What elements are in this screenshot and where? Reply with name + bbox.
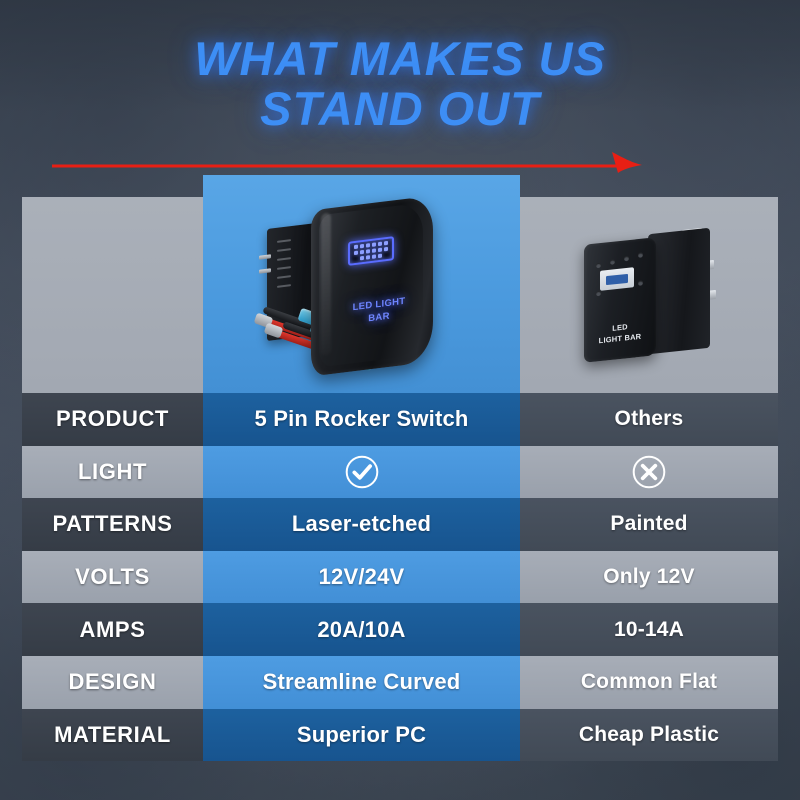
switch-caption-line-2: BAR bbox=[368, 310, 389, 324]
row-ours-text: 20A/10A bbox=[317, 617, 405, 643]
table-row: LIGHT bbox=[22, 446, 778, 499]
row-label-material: MATERIAL bbox=[22, 709, 203, 762]
row-label-text: LIGHT bbox=[78, 459, 147, 485]
row-label-amps: AMPS bbox=[22, 603, 203, 656]
row-ours-material: Superior PC bbox=[203, 709, 520, 762]
image-row-others-cell: LED LIGHT BAR bbox=[520, 197, 778, 393]
others-led-glyph-icon bbox=[600, 267, 634, 291]
row-label-text: DESIGN bbox=[69, 669, 157, 695]
row-others-text: Cheap Plastic bbox=[579, 723, 719, 747]
row-label-design: DESIGN bbox=[22, 656, 203, 709]
row-label-light: LIGHT bbox=[22, 446, 203, 499]
row-label-text: AMPS bbox=[80, 617, 146, 643]
table-row: MATERIAL Superior PC Cheap Plastic bbox=[22, 709, 778, 762]
row-others-text: 10-14A bbox=[614, 618, 684, 642]
row-ours-patterns: Laser-etched bbox=[203, 498, 520, 551]
cross-circle-icon bbox=[631, 454, 667, 490]
row-ours-amps: 20A/10A bbox=[203, 603, 520, 656]
row-ours-text: Laser-etched bbox=[292, 511, 431, 537]
table-row: AMPS 20A/10A 10-14A bbox=[22, 603, 778, 656]
row-ours-text: 12V/24V bbox=[319, 564, 405, 590]
title-line-1: WHAT MAKES US bbox=[0, 36, 800, 82]
row-label-text: PATTERNS bbox=[52, 511, 172, 537]
row-ours-design: Streamline Curved bbox=[203, 656, 520, 709]
row-ours-text: Superior PC bbox=[297, 722, 426, 748]
row-others-material: Cheap Plastic bbox=[520, 709, 778, 762]
table-row: VOLTS 12V/24V Only 12V bbox=[22, 551, 778, 604]
image-row-label-cell bbox=[22, 197, 203, 393]
row-ours-text: Streamline Curved bbox=[263, 669, 461, 695]
comparison-table: LED LIGHT BAR bbox=[22, 197, 778, 761]
product-rocker-switch-image: LED LIGHT BAR bbox=[255, 203, 467, 369]
row-others-product: Others bbox=[520, 393, 778, 446]
page-title: WHAT MAKES US STAND OUT bbox=[0, 36, 800, 132]
others-caption-line-1: LED bbox=[612, 322, 628, 333]
check-circle-icon bbox=[344, 454, 380, 490]
table-row: DESIGN Streamline Curved Common Flat bbox=[22, 656, 778, 709]
red-arrow-icon bbox=[52, 151, 644, 173]
row-label-text: MATERIAL bbox=[54, 722, 171, 748]
title-line-2: STAND OUT bbox=[0, 86, 800, 132]
row-ours-light bbox=[203, 446, 520, 499]
table-row: PATTERNS Laser-etched Painted bbox=[22, 498, 778, 551]
row-others-text: Only 12V bbox=[603, 565, 694, 589]
row-ours-volts: 12V/24V bbox=[203, 551, 520, 604]
row-label-text: VOLTS bbox=[75, 564, 150, 590]
row-others-text: Common Flat bbox=[581, 670, 717, 694]
row-others-light bbox=[520, 446, 778, 499]
table-image-header-row: LED LIGHT BAR bbox=[22, 197, 778, 393]
row-ours-product: 5 Pin Rocker Switch bbox=[203, 393, 520, 446]
row-others-volts: Only 12V bbox=[520, 551, 778, 604]
row-others-design: Common Flat bbox=[520, 656, 778, 709]
row-label-volts: VOLTS bbox=[22, 551, 203, 604]
row-ours-text: 5 Pin Rocker Switch bbox=[254, 406, 468, 432]
row-label-product: PRODUCT bbox=[22, 393, 203, 446]
others-rocker-switch-image: LED LIGHT BAR bbox=[572, 227, 744, 367]
comparison-infographic: WHAT MAKES US STAND OUT bbox=[0, 0, 800, 800]
row-label-text: PRODUCT bbox=[56, 406, 169, 432]
image-row-product-cell: LED LIGHT BAR bbox=[203, 197, 520, 393]
product-photo-panel: LED LIGHT BAR bbox=[203, 175, 520, 393]
table-row: PRODUCT 5 Pin Rocker Switch Others bbox=[22, 393, 778, 446]
row-others-text: Painted bbox=[610, 512, 687, 536]
row-others-text: Others bbox=[615, 407, 684, 431]
row-others-amps: 10-14A bbox=[520, 603, 778, 656]
row-label-patterns: PATTERNS bbox=[22, 498, 203, 551]
row-others-patterns: Painted bbox=[520, 498, 778, 551]
